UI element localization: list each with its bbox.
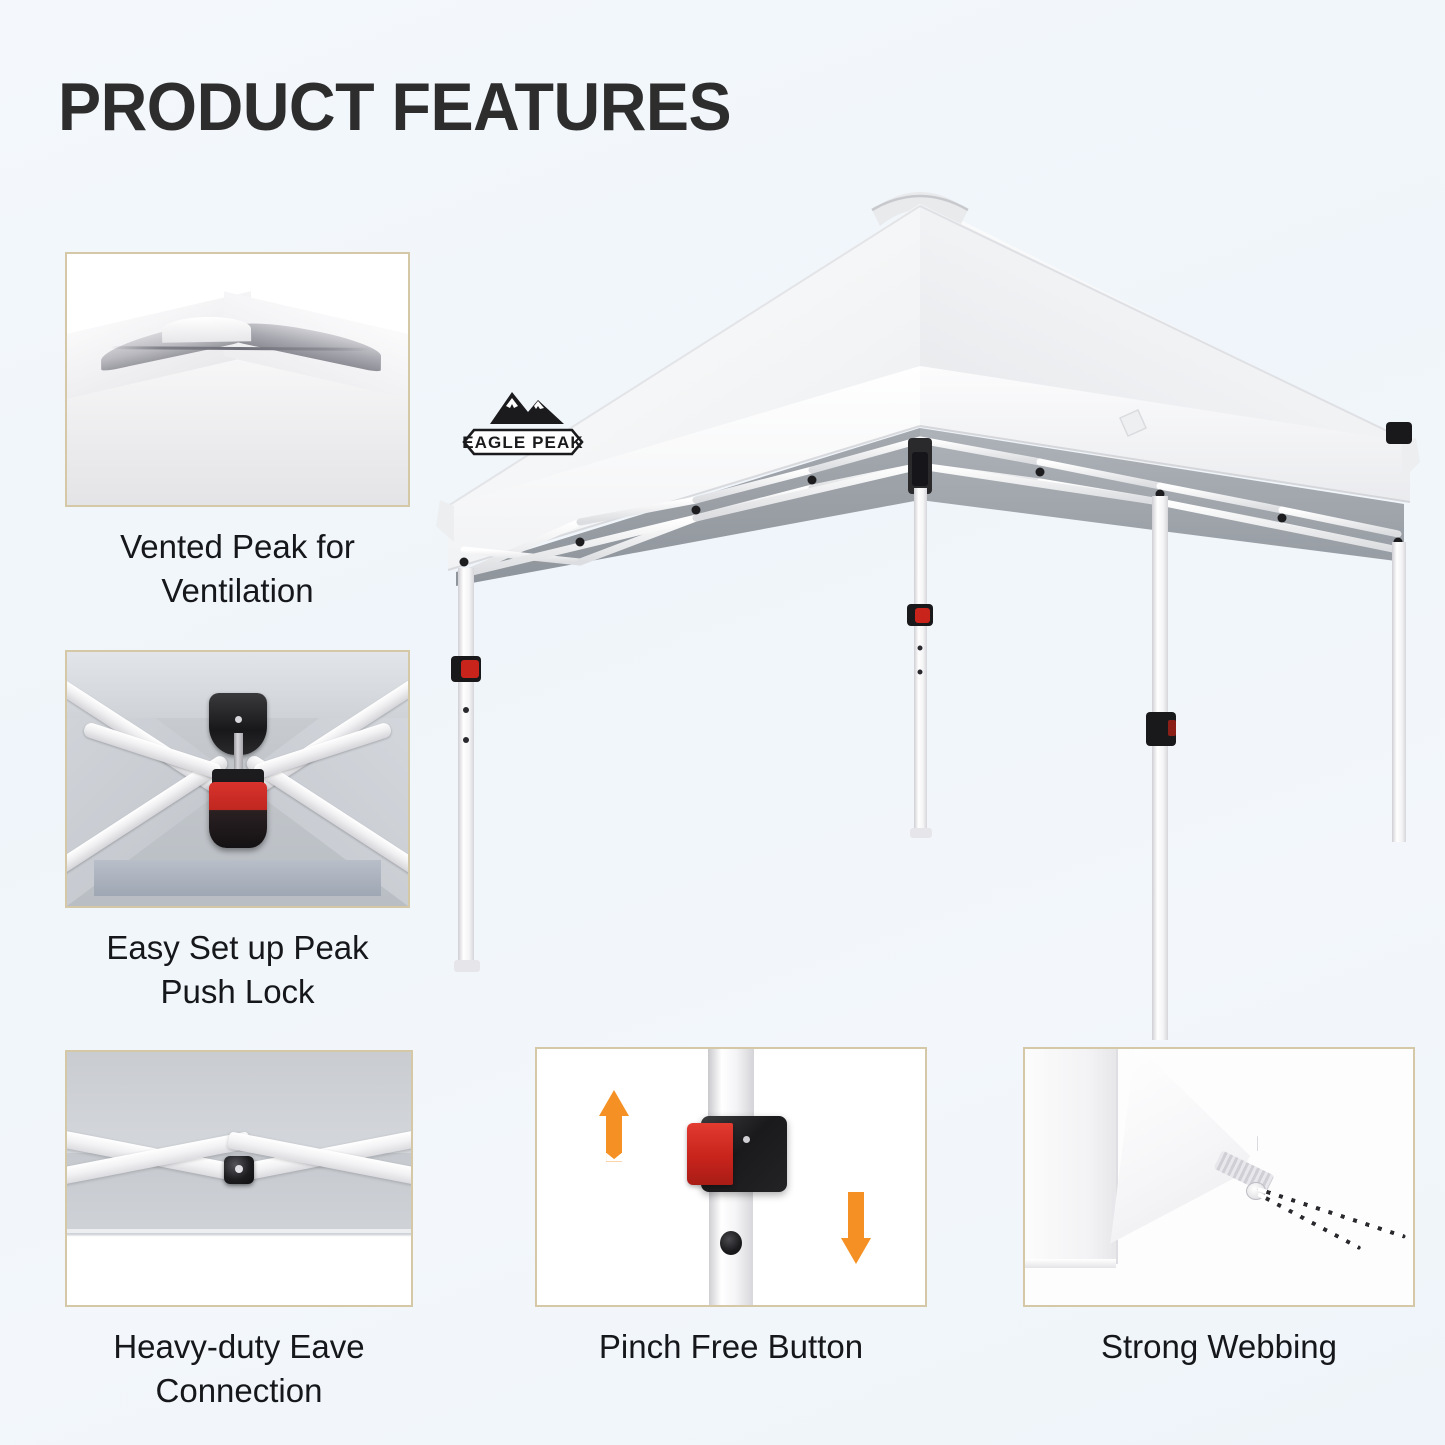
feature-caption: Vented Peak for Ventilation	[65, 525, 410, 612]
leg-front-right	[1152, 496, 1168, 1040]
feature-image-frame	[1023, 1047, 1415, 1307]
brand-logo-text: EAGLE PEAK	[462, 433, 584, 452]
leg-front-left	[458, 568, 474, 968]
pole-hole-icon	[720, 1231, 742, 1255]
feature-card-push-lock: Easy Set up Peak Push Lock	[65, 650, 410, 1013]
feature-card-eave: Heavy-duty Eave Connection	[65, 1050, 413, 1412]
feature-caption: Easy Set up Peak Push Lock	[65, 926, 410, 1013]
feature-card-strong-webbing: Strong Webbing	[1023, 1047, 1415, 1369]
feature-caption: Heavy-duty Eave Connection	[65, 1325, 413, 1412]
feature-image-frame	[65, 1050, 413, 1307]
arrow-up-icon	[599, 1090, 629, 1162]
feature-image-frame	[65, 650, 410, 908]
feature-image-frame	[535, 1047, 927, 1307]
pinch-free-button-photo	[537, 1049, 925, 1305]
leg-back-center	[914, 488, 927, 834]
leg-back-right	[1392, 542, 1406, 842]
feature-caption: Pinch Free Button	[535, 1325, 927, 1369]
peak-push-lock-photo	[67, 652, 408, 906]
strong-webbing-photo	[1025, 1049, 1413, 1305]
center-peak-hub	[908, 438, 932, 494]
eave-bolt-icon	[224, 1156, 254, 1184]
page-title: PRODUCT FEATURES	[58, 68, 731, 146]
mountain-icon	[490, 392, 564, 424]
feature-card-pinch-free-button: Pinch Free Button	[535, 1047, 927, 1369]
push-lock-icon	[209, 782, 267, 848]
feature-card-vented-peak: Vented Peak for Ventilation	[65, 252, 410, 612]
canopy-illustration: EAGLE PEAK	[420, 170, 1430, 1040]
canopy-legs	[454, 488, 1406, 1040]
vented-peak-photo	[67, 254, 408, 505]
eave-connection-photo	[67, 1052, 411, 1305]
arrow-down-icon	[841, 1192, 871, 1264]
hero-product-image: EAGLE PEAK	[420, 170, 1430, 1040]
feature-image-frame	[65, 252, 410, 507]
feature-caption: Strong Webbing	[1023, 1325, 1415, 1369]
red-push-button-icon	[687, 1123, 733, 1184]
brand-logo: EAGLE PEAK	[462, 392, 584, 454]
